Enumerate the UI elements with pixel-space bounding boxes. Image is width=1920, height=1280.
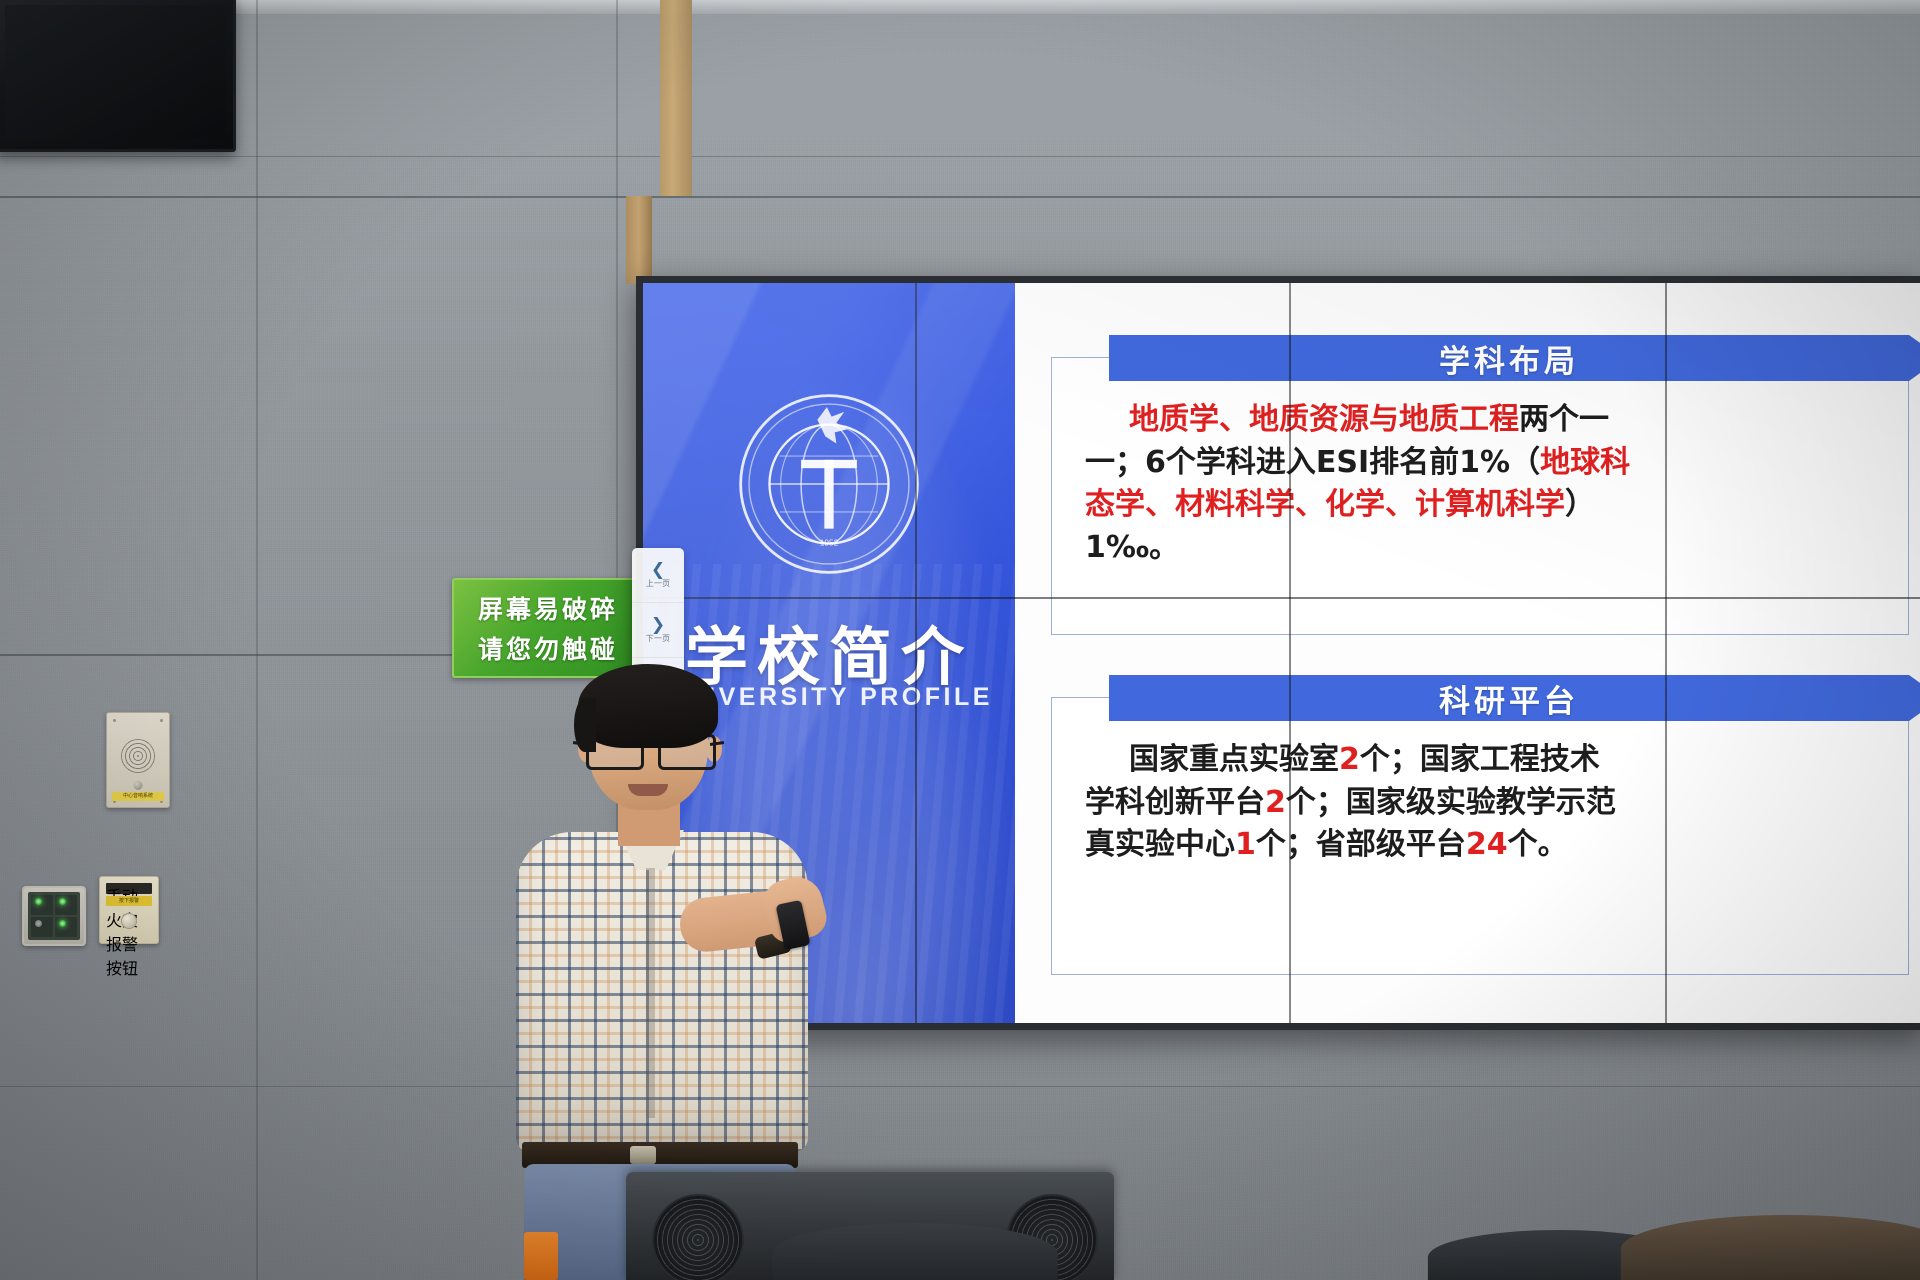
section-line: 态学、材料科学、化学、计算机科学）: [1085, 484, 1909, 527]
intercom-label: 中心音响系统: [112, 792, 164, 801]
ceiling-strip: [0, 0, 1920, 14]
toolbar-next-slide[interactable]: ❯ 下一页: [632, 603, 684, 658]
light-switch[interactable]: [31, 917, 53, 937]
section-line: 国家重点实验室2个；国家工程技术: [1085, 739, 1909, 782]
toolbar-prev-label: 上一页: [646, 578, 671, 589]
fire-alarm-pull-station[interactable]: 手动火灾报警按钮 按下报警: [99, 876, 159, 944]
audience-head: [1700, 1130, 1876, 1280]
toolbar-prev-slide[interactable]: ❮ 上一页: [632, 548, 684, 603]
wall-monitor: [0, 0, 236, 152]
light-switch[interactable]: [55, 917, 77, 937]
warning-sign-line-2: 请您勿触碰: [478, 630, 618, 666]
screw: [160, 719, 163, 722]
intercom-panel[interactable]: 中心音响系统: [106, 712, 170, 808]
university-emblem-icon: 1952: [736, 391, 922, 577]
section-heading-discipline: 学科布局: [1109, 335, 1909, 381]
wall-seam: [0, 156, 1920, 157]
light-switch[interactable]: [31, 895, 53, 915]
fire-alarm-top-label: 手动火灾报警按钮: [106, 883, 152, 894]
section-line: 地质学、地质资源与地质工程两个一: [1085, 399, 1909, 442]
slide-content-panel: 学科布局 地质学、地质资源与地质工程两个一 一；6个学科进入ESI排名前1%（地…: [1015, 283, 1920, 1023]
svg-text:1952: 1952: [820, 537, 839, 547]
speaker-cone-icon: [652, 1194, 744, 1280]
chevron-left-icon: ❮: [651, 562, 665, 577]
presenter-shirt-placket: [646, 868, 655, 1118]
switch-grid: [28, 892, 80, 940]
lecture-hall-screenshot: 中心音响系统 手动火灾报警按钮 按下报警 屏幕易破碎 请您勿触碰: [0, 0, 1920, 1280]
presentation-slide: 1952 学校简介 UNIVERSITY PROFILE 学科布局 地质学、地质…: [643, 283, 1920, 1023]
slide-section-discipline: 学科布局 地质学、地质资源与地质工程两个一 一；6个学科进入ESI排名前1%（地…: [1051, 335, 1909, 635]
presenter-mouth: [628, 784, 668, 796]
toolbar-next-label: 下一页: [646, 633, 671, 644]
wall-seam: [0, 196, 1920, 198]
speaker-grille-icon: [121, 739, 155, 773]
slide-section-research: 科研平台 国家重点实验室2个；国家工程技术 学科创新平台2个；国家级实验教学示范…: [1051, 675, 1909, 975]
section-body-research: 国家重点实验室2个；国家工程技术 学科创新平台2个；国家级实验教学示范 真实验中…: [1085, 739, 1909, 867]
section-line: 真实验中心1个；省部级平台24个。: [1085, 824, 1909, 867]
section-line: 一；6个学科进入ESI排名前1%（地球科: [1085, 442, 1909, 485]
light-switch[interactable]: [55, 895, 77, 915]
section-line: 1‰。: [1085, 527, 1909, 570]
wall-seam: [256, 0, 258, 1280]
warning-sign-line-1: 屏幕易破碎: [478, 590, 618, 626]
fire-alarm-button[interactable]: [121, 913, 137, 929]
presenter-badge: [524, 1232, 558, 1280]
wall-trim-column: [660, 0, 692, 196]
section-body-discipline: 地质学、地质资源与地质工程两个一 一；6个学科进入ESI排名前1%（地球科 态学…: [1085, 399, 1909, 569]
presenter-hair: [578, 664, 718, 748]
wall-seam: [0, 1086, 1920, 1087]
screw: [113, 719, 116, 722]
screen-warning-sign: 屏幕易破碎 请您勿触碰: [452, 578, 644, 678]
fire-alarm-sub-label: 按下报警: [106, 896, 152, 906]
lighting-switch-panel[interactable]: [22, 886, 86, 946]
led-video-wall[interactable]: 1952 学校简介 UNIVERSITY PROFILE 学科布局 地质学、地质…: [636, 276, 1920, 1030]
presenter-shirt: [516, 832, 808, 1152]
intercom-call-button[interactable]: [134, 781, 143, 790]
section-heading-research: 科研平台: [1109, 675, 1909, 721]
section-line: 学科创新平台2个；国家级实验教学示范: [1085, 782, 1909, 825]
audience-head: [1490, 1162, 1628, 1280]
chevron-right-icon: ❯: [651, 617, 665, 632]
wall-trim-column: [626, 196, 652, 284]
audience-head: [840, 1148, 990, 1280]
